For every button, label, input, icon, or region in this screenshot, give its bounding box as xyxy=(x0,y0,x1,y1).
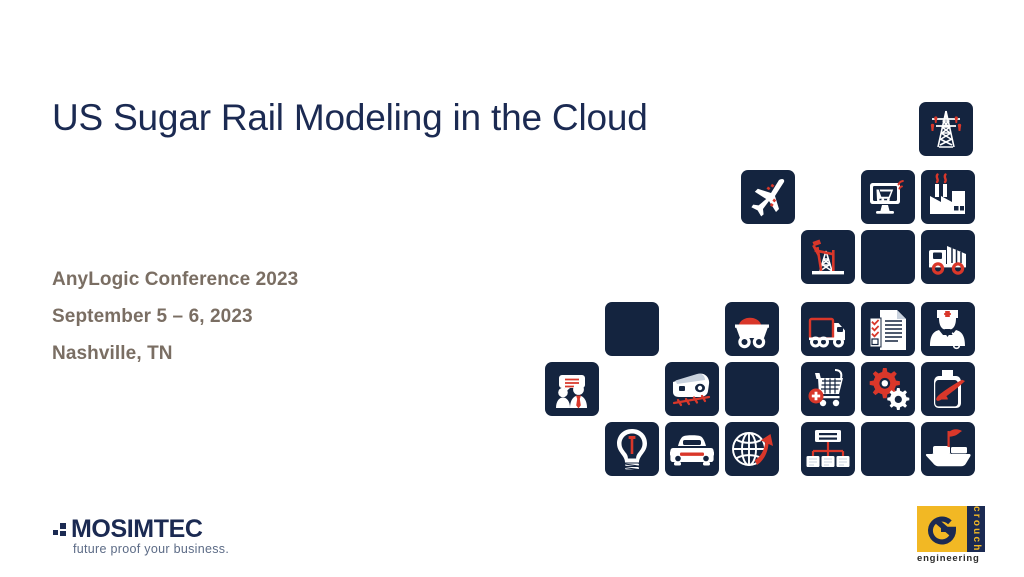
crouch-vertical-text: crouch xyxy=(967,506,985,552)
car-icon xyxy=(665,422,719,476)
delivery-truck-icon xyxy=(801,302,855,356)
lightbulb-icon xyxy=(605,422,659,476)
people-consultation-icon xyxy=(545,362,599,416)
crouch-vertical-bar: crouch xyxy=(967,506,985,552)
ecommerce-monitor-icon xyxy=(861,170,915,224)
crouch-e-mark-icon xyxy=(923,510,961,548)
mosimtec-wordmark: MOSIMTEC xyxy=(71,515,203,544)
org-chart-icon xyxy=(801,422,855,476)
presentation-slide: US Sugar Rail Modeling in the Cloud AnyL… xyxy=(0,0,1024,577)
dump-truck-icon xyxy=(921,230,975,284)
checklist-document-icon xyxy=(861,302,915,356)
crouch-engineering-logo: crouch engineering xyxy=(917,506,985,568)
icon-mosaic xyxy=(0,0,1024,577)
empty-tile xyxy=(861,422,915,476)
medical-doctor-icon xyxy=(921,302,975,356)
shopping-cart-plus-icon xyxy=(801,362,855,416)
mosimtec-squares-icon xyxy=(53,521,73,537)
mosimtec-logo: MOSIMTEC future proof your business. xyxy=(53,515,253,561)
factory-icon xyxy=(921,170,975,224)
crouch-engineering-text: engineering xyxy=(917,553,985,564)
mining-cart-icon xyxy=(725,302,779,356)
mosimtec-tagline: future proof your business. xyxy=(73,542,229,556)
oil-pumpjack-icon xyxy=(801,230,855,284)
cargo-ship-icon xyxy=(921,422,975,476)
airplane-icon xyxy=(741,170,795,224)
empty-tile xyxy=(861,230,915,284)
gears-icon xyxy=(861,362,915,416)
train-icon xyxy=(665,362,719,416)
medicine-bottle-icon xyxy=(921,362,975,416)
empty-tile xyxy=(605,302,659,356)
globe-arrow-icon xyxy=(725,422,779,476)
empty-tile xyxy=(725,362,779,416)
power-transmission-tower-icon xyxy=(919,102,973,156)
